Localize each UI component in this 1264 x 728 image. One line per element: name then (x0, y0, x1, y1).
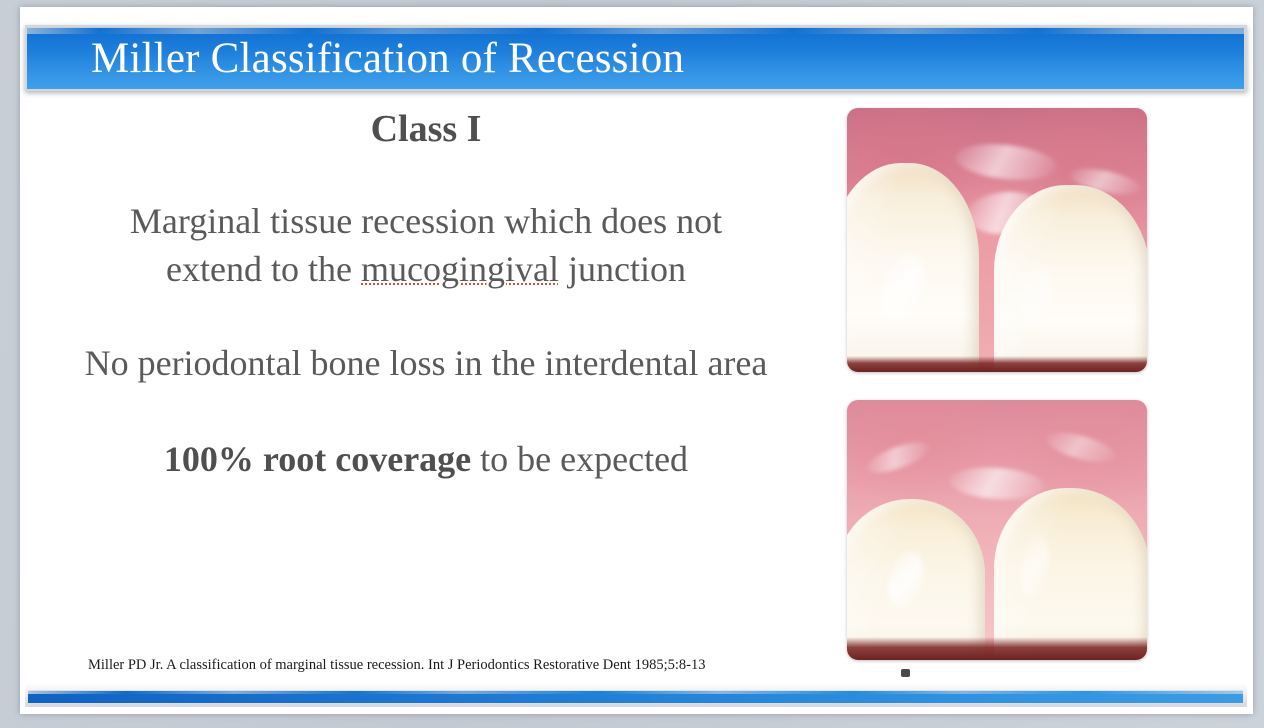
slide-footer-accent (25, 683, 1247, 707)
slide-body-text: Class I Marginal tissue recession which … (80, 103, 772, 483)
bone-loss-paragraph: No periodontal bone loss in the interden… (80, 339, 772, 387)
root-coverage-emphasis: 100% root coverage (164, 439, 471, 479)
definition-text-end: junction (559, 249, 686, 289)
definition-paragraph: Marginal tissue recession which does not… (80, 197, 772, 293)
photo-bottom-content (847, 400, 1147, 660)
class-heading: Class I (80, 103, 772, 155)
footer-accent-brush-texture (28, 690, 1243, 694)
root-coverage-paragraph: 100% root coverage to be expected (80, 435, 772, 483)
slide-canvas: Miller Classification of Recession Class… (20, 7, 1253, 714)
citation-reference: Miller PD Jr. A classification of margin… (88, 657, 706, 674)
clinical-photo-recession-after[interactable] (847, 400, 1147, 660)
clinical-photo-recession-before[interactable] (847, 108, 1147, 372)
cursor-pointer (901, 669, 910, 677)
root-coverage-rest: to be expected (471, 439, 688, 479)
photo-bottom-lower-shadow (847, 637, 1147, 660)
page-title: Miller Classification of Recession (91, 28, 684, 89)
photo-top-content (847, 108, 1147, 372)
photo-top-lower-shadow (847, 356, 1147, 372)
tooth-right-bottom (994, 488, 1147, 660)
spellcheck-word-mucogingival[interactable]: mucogingival (361, 249, 559, 289)
slide-title-bar[interactable]: Miller Classification of Recession (25, 25, 1247, 91)
tooth-right-top (994, 185, 1147, 372)
presentation-frame: Miller Classification of Recession Class… (0, 0, 1264, 728)
